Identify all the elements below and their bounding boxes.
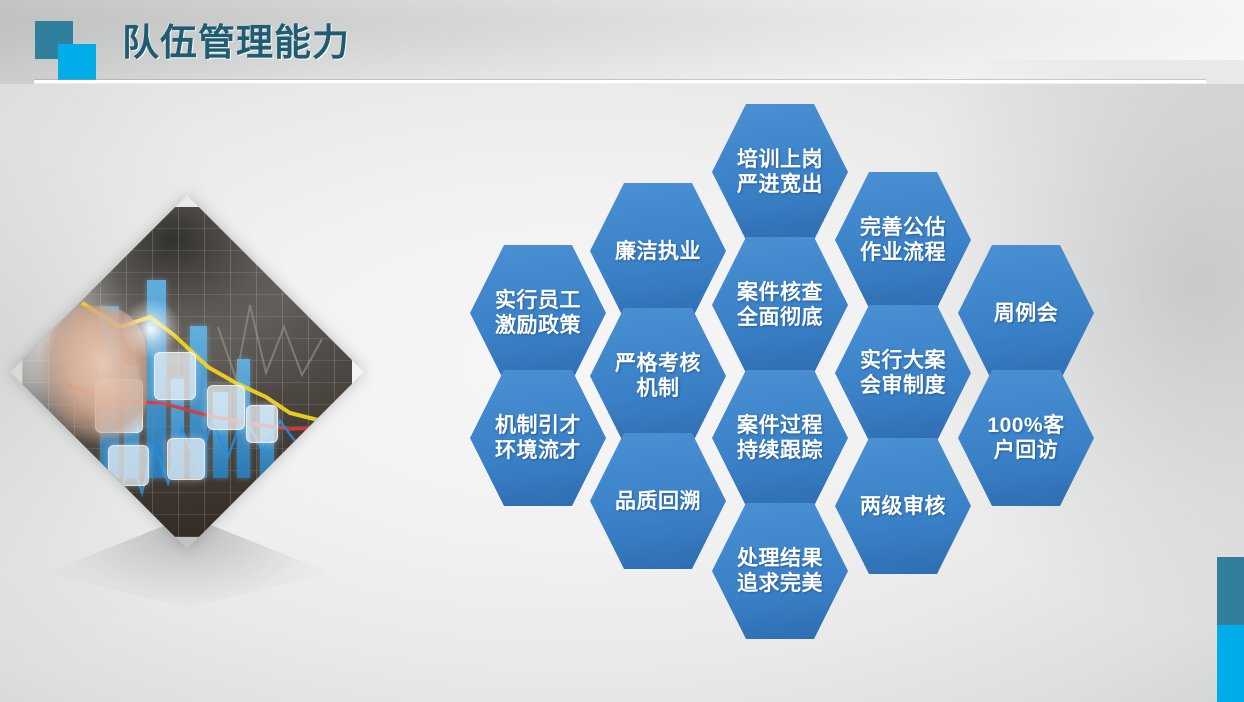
hexagon-hex-14[interactable]: 100%客 户回访 — [958, 370, 1094, 506]
hexagon-hex-2[interactable]: 机制引才 环境流才 — [470, 370, 606, 506]
hexagon-hex-1[interactable]: 实行员工 激励政策 — [470, 245, 606, 381]
hexagon-hex-5[interactable]: 品质回溯 — [590, 433, 726, 569]
hexagon-label: 案件过程 持续跟踪 — [733, 413, 827, 463]
hexagon-label: 培训上岗 严进宽出 — [733, 147, 827, 197]
hexagon-label: 廉洁执业 — [611, 239, 705, 264]
hexagon-hex-9[interactable]: 处理结果 追求完美 — [712, 503, 848, 639]
hexagon-label: 处理结果 追求完美 — [733, 546, 827, 596]
hexagon-label: 严格考核 机制 — [611, 351, 705, 401]
hexagon-hex-6[interactable]: 培训上岗 严进宽出 — [712, 104, 848, 240]
hexagon-hex-13[interactable]: 周例会 — [958, 245, 1094, 381]
hexagon-hex-11[interactable]: 实行大案 会审制度 — [835, 305, 971, 441]
hexagon-hex-10[interactable]: 完善公估 作业流程 — [835, 172, 971, 308]
hexagon-hex-12[interactable]: 两级审核 — [835, 438, 971, 574]
hexagon-cluster: 实行员工 激励政策机制引才 环境流才廉洁执业严格考核 机制品质回溯培训上岗 严进… — [0, 0, 1244, 702]
hexagon-label: 机制引才 环境流才 — [491, 413, 585, 463]
hexagon-hex-4[interactable]: 严格考核 机制 — [590, 308, 726, 444]
slide-canvas: 队伍管理能力 — [0, 0, 1244, 702]
hexagon-label: 实行大案 会审制度 — [856, 348, 950, 398]
hexagon-hex-3[interactable]: 廉洁执业 — [590, 183, 726, 319]
hexagon-label: 100%客 户回访 — [983, 413, 1068, 463]
hexagon-hex-7[interactable]: 案件核查 全面彻底 — [712, 237, 848, 373]
hexagon-label: 两级审核 — [856, 494, 950, 519]
hexagon-label: 完善公估 作业流程 — [856, 215, 950, 265]
hexagon-label: 实行员工 激励政策 — [491, 288, 585, 338]
hexagon-label: 周例会 — [990, 301, 1063, 326]
hexagon-label: 案件核查 全面彻底 — [733, 280, 827, 330]
accent-bar-blue — [1217, 625, 1244, 702]
hexagon-label: 品质回溯 — [611, 489, 705, 514]
accent-bar-teal — [1217, 557, 1244, 625]
hexagon-hex-8[interactable]: 案件过程 持续跟踪 — [712, 370, 848, 506]
